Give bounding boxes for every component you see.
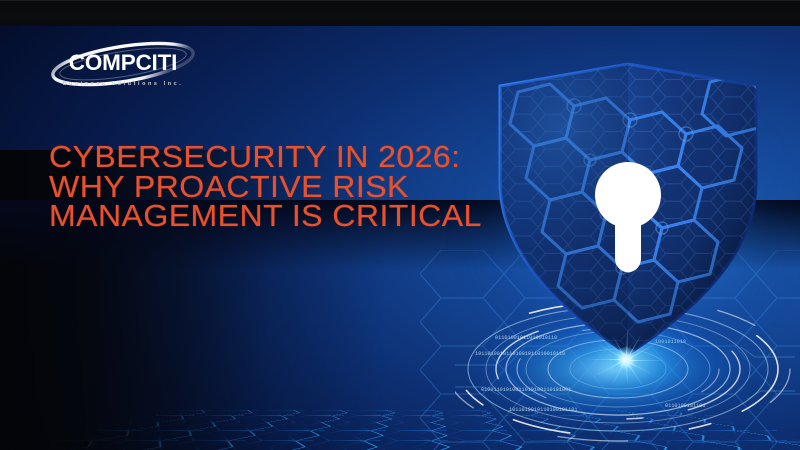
page-title: CYBERSECURITY IN 2026: WHY PROACTIVE RIS… [49,142,482,231]
shield-icon [478,62,778,362]
brand-name: COMPCITI [48,52,198,75]
headline-line-1: CYBERSECURITY IN 2026: [49,142,482,172]
top-edge-line [0,0,800,1]
headline-line-3: MANAGEMENT IS CRITICAL [49,201,482,231]
compciti-logo[interactable]: COMPCITI Business Solutions Inc. [48,40,198,96]
headline-line-2: WHY PROACTIVE RISK [49,172,482,202]
cybersecurity-banner: 10110100101101001011010010110 0100110101… [0,0,800,450]
brand-tagline: Business Solutions Inc. [48,82,198,87]
top-dark-band [0,0,800,26]
